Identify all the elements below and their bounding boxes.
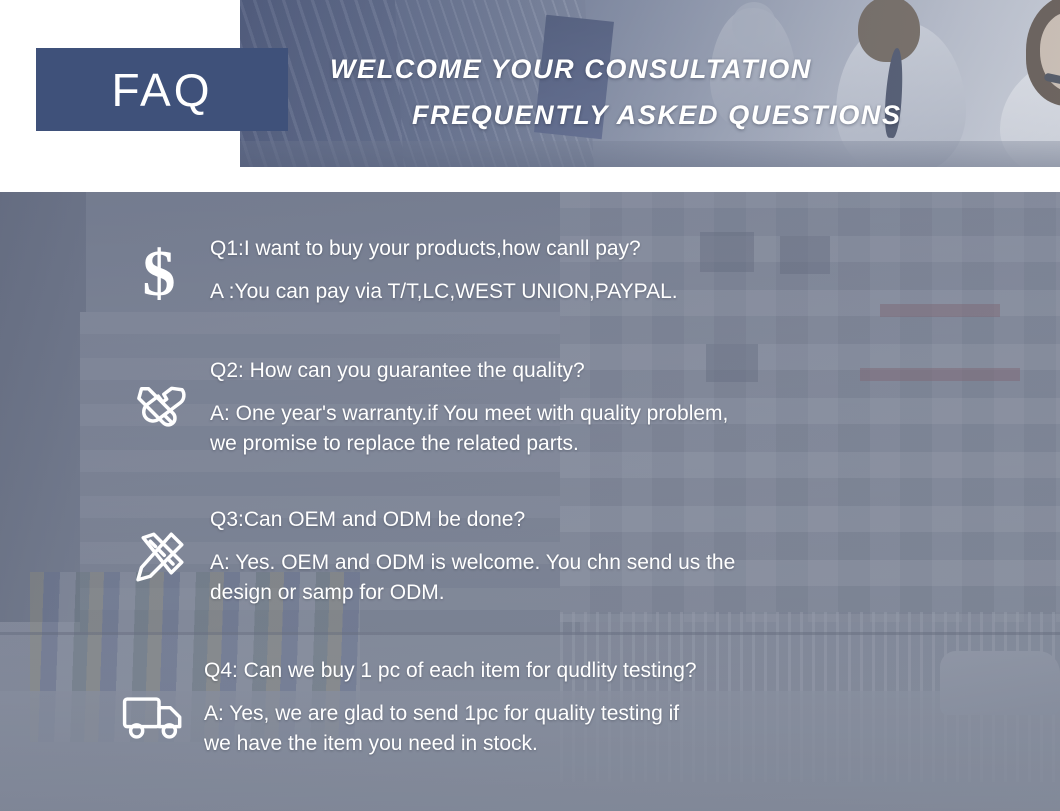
header-title-primary: WELCOME YOUR CONSULTATION [330, 54, 812, 85]
faq-section: $ Q1:I want to buy your products,how can… [0, 192, 1060, 811]
faq-answer: A :You can pay via T/T,LC,WEST UNION,PAY… [210, 277, 678, 307]
header-title-secondary: FREQUENTLY ASKED QUESTIONS [412, 100, 902, 131]
header-title-group: WELCOME YOUR CONSULTATION FREQUENTLY ASK… [240, 0, 1060, 167]
design-pencil-ruler-icon-svg [131, 529, 187, 585]
faq-answer: A: One year's warranty.if You meet with … [210, 399, 728, 459]
faq-answer: A: Yes, we are glad to send 1pc for qual… [204, 699, 697, 759]
dollar-icon: $ [124, 234, 194, 314]
faq-page: WELCOME YOUR CONSULTATION FREQUENTLY ASK… [0, 0, 1060, 811]
delivery-truck-icon [118, 656, 188, 760]
delivery-truck-icon-svg [122, 694, 184, 742]
dollar-glyph: $ [143, 241, 176, 307]
faq-item-text: Q2: How can you guarantee the quality? A… [194, 356, 728, 459]
faq-item-text: Q3:Can OEM and ODM be done? A: Yes. OEM … [194, 505, 735, 608]
faq-badge-label: FAQ [111, 67, 212, 113]
tools-icon-svg [131, 380, 187, 436]
faq-question: Q2: How can you guarantee the quality? [210, 356, 728, 386]
faq-question: Q1:I want to buy your products,how canll… [210, 234, 678, 264]
faq-question: Q4: Can we buy 1 pc of each item for qud… [204, 656, 697, 686]
faq-item: Q2: How can you guarantee the quality? A… [124, 356, 728, 460]
faq-answer: A: Yes. OEM and ODM is welcome. You chn … [210, 548, 735, 608]
page-header: WELCOME YOUR CONSULTATION FREQUENTLY ASK… [0, 0, 1060, 167]
faq-list: $ Q1:I want to buy your products,how can… [0, 192, 1060, 811]
design-pencil-ruler-icon [124, 505, 194, 609]
faq-item-text: Q4: Can we buy 1 pc of each item for qud… [188, 656, 697, 759]
faq-item: $ Q1:I want to buy your products,how can… [124, 234, 678, 314]
faq-question: Q3:Can OEM and ODM be done? [210, 505, 735, 535]
tools-icon [124, 356, 194, 460]
faq-badge: FAQ [36, 48, 288, 131]
faq-item-text: Q1:I want to buy your products,how canll… [194, 234, 678, 307]
faq-item: Q3:Can OEM and ODM be done? A: Yes. OEM … [124, 505, 735, 609]
faq-item: Q4: Can we buy 1 pc of each item for qud… [118, 656, 697, 760]
